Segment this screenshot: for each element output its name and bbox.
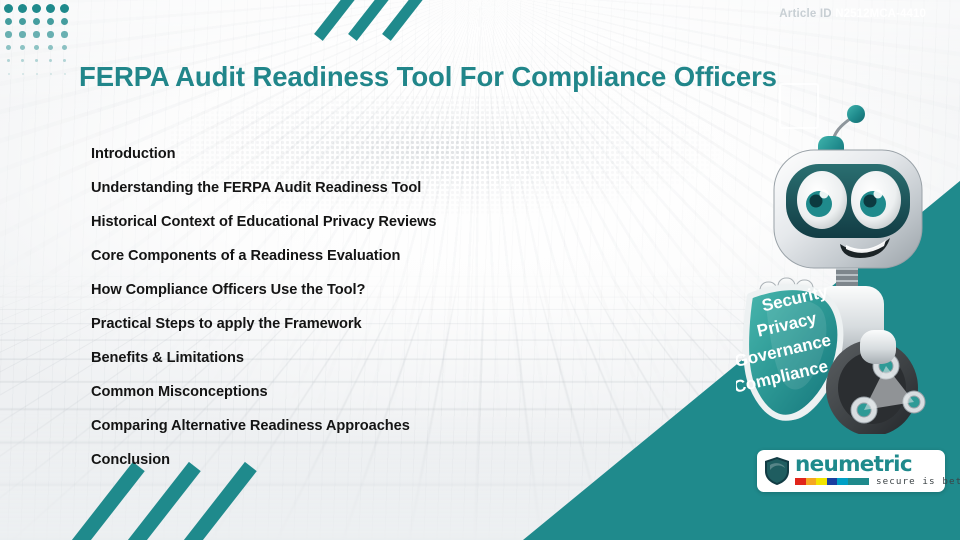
logo-tagline: secure is better <box>876 476 960 487</box>
dot-grid-dot <box>62 45 67 50</box>
dot-grid-dot <box>34 45 39 50</box>
dot-grid-dot <box>19 18 27 26</box>
dot-grid-dot <box>33 31 39 37</box>
logo-color-segment <box>848 478 859 485</box>
agenda-item-2[interactable]: Historical Context of Educational Privac… <box>91 205 561 239</box>
page-title: FERPA Audit Readiness Tool For Complianc… <box>79 61 777 93</box>
dot-grid-dot <box>49 59 52 62</box>
article-id-label: Article ID <box>779 8 832 20</box>
agenda-item-1[interactable]: Understanding the FERPA Audit Readiness … <box>91 171 561 205</box>
dot-grid-dot <box>46 4 55 13</box>
logo-color-segment <box>827 478 838 485</box>
brand-logo[interactable]: neumetric secure is better <box>757 450 945 492</box>
dot-grid-dot <box>64 73 66 75</box>
robot-neck-coil <box>836 272 858 284</box>
logo-shield-icon <box>764 456 790 486</box>
dot-grid-dot <box>5 31 11 37</box>
agenda-list: IntroductionUnderstanding the FERPA Audi… <box>91 137 561 477</box>
dot-grid-dot <box>36 73 38 75</box>
agenda-item-4[interactable]: How Compliance Officers Use the Tool? <box>91 273 561 307</box>
agenda-item-9[interactable]: Conclusion <box>91 443 561 477</box>
agenda-item-8[interactable]: Comparing Alternative Readiness Approach… <box>91 409 561 443</box>
dot-grid-dot <box>50 73 52 75</box>
robot-mascot-illustration: Security Privacy Governance Compliance <box>736 104 960 434</box>
antenna-bulb <box>847 105 865 123</box>
agenda-item-7[interactable]: Common Misconceptions <box>91 375 561 409</box>
dot-grid-dot <box>61 18 69 26</box>
dot-grid-dot <box>48 45 53 50</box>
dot-grid-dot <box>18 4 27 13</box>
diagonal-stripes-top <box>326 0 456 36</box>
logo-color-segment <box>795 478 806 485</box>
dot-grid-dot <box>20 45 25 50</box>
dot-grid-dot <box>47 18 55 26</box>
presentation-slide: Article ID N2512MCA-4410 FERPA Audit Rea… <box>0 0 960 540</box>
logo-color-segment <box>837 478 848 485</box>
dot-grid-dot <box>33 18 41 26</box>
dot-grid-dot <box>60 4 69 13</box>
dot-grid-dot <box>47 31 53 37</box>
dot-grid-dot <box>32 4 41 13</box>
robot-eye-glint-left <box>820 190 829 199</box>
dot-grid-dot <box>19 31 25 37</box>
robot-mascot: Security Privacy Governance Compliance <box>736 104 960 434</box>
logo-color-segment <box>816 478 827 485</box>
dot-grid-dot <box>4 4 13 13</box>
dot-grid-dot <box>5 18 13 26</box>
diagonal-stripes-bottom <box>95 466 285 540</box>
dot-grid-dot <box>7 59 10 62</box>
agenda-item-6[interactable]: Benefits & Limitations <box>91 341 561 375</box>
dot-grid-dot <box>61 31 67 37</box>
dot-grid-dot <box>35 59 38 62</box>
dot-grid-dot <box>22 73 24 75</box>
article-id-value: N2512MCA-4410 <box>835 8 926 20</box>
agenda-item-3[interactable]: Core Components of a Readiness Evaluatio… <box>91 239 561 273</box>
logo-color-segment <box>858 478 869 485</box>
dot-grid-dot <box>8 73 10 75</box>
article-id: Article ID N2512MCA-4410 <box>779 8 926 20</box>
dot-grid-dot <box>63 59 66 62</box>
robot-eye-glint-right <box>874 190 883 199</box>
logo-color-segment <box>806 478 817 485</box>
agenda-item-0[interactable]: Introduction <box>91 137 561 171</box>
dot-grid-dot <box>21 59 24 62</box>
dot-grid-dot <box>6 45 11 50</box>
logo-wordmark: neumetric <box>795 455 960 474</box>
agenda-item-5[interactable]: Practical Steps to apply the Framework <box>91 307 561 341</box>
logo-color-bar <box>795 478 869 485</box>
dot-grid-decoration <box>4 4 80 80</box>
